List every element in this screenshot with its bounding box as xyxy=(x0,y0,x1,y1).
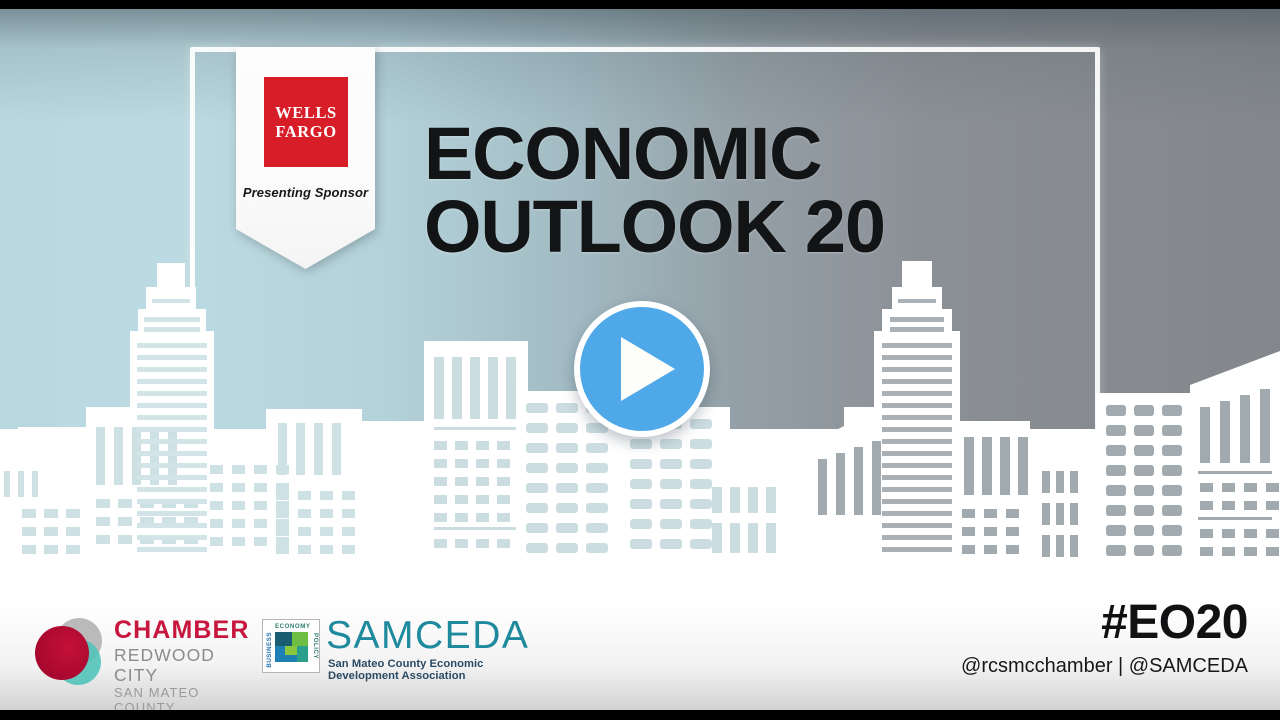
play-triangle-icon xyxy=(621,337,675,401)
samceda-tagline: San Mateo County Economic Development As… xyxy=(328,658,552,682)
presenting-sponsor-label: Presenting Sponsor xyxy=(236,185,375,200)
samceda-block-4 xyxy=(285,646,297,655)
social-handles: @rcsmcchamber | @SAMCEDA xyxy=(961,656,1248,676)
samceda-word-policy: POLICY xyxy=(312,633,319,659)
presenting-sponsor-ribbon: WELLS FARGO Presenting Sponsor xyxy=(236,47,375,269)
letterbox-top xyxy=(0,0,1280,9)
chamber-city: REDWOOD CITY xyxy=(114,646,249,685)
wells-fargo-logo: WELLS FARGO xyxy=(264,77,348,167)
chamber-county: SAN MATEO COUNTY xyxy=(114,686,249,710)
samceda-word-economy: ECONOMY xyxy=(275,623,310,630)
chamber-logo[interactable]: CHAMBER REDWOOD CITY SAN MATEO COUNTY xyxy=(34,614,249,686)
chamber-name: CHAMBER xyxy=(114,618,249,643)
video-player-frame: WELLS FARGO Presenting Sponsor ECONOMIC … xyxy=(0,0,1280,720)
page-title: ECONOMIC OUTLOOK 20 xyxy=(424,117,885,264)
play-button[interactable] xyxy=(574,301,710,437)
samceda-block-5 xyxy=(297,646,308,662)
samceda-block-3 xyxy=(275,646,285,662)
samceda-block-1 xyxy=(275,632,292,646)
samceda-logo[interactable]: BUSINESS ECONOMY POLICY SAMCEDA San Mate… xyxy=(262,617,552,683)
wells-fargo-line-2: FARGO xyxy=(275,123,336,140)
samceda-name: SAMCEDA xyxy=(326,616,529,655)
footer-bar: CHAMBER REDWOOD CITY SAN MATEO COUNTY BU… xyxy=(0,569,1280,710)
chamber-circles-icon xyxy=(34,617,106,685)
samceda-block-6 xyxy=(285,655,297,662)
chamber-circle-red xyxy=(35,626,89,680)
wells-fargo-line-1: WELLS xyxy=(275,104,337,121)
samceda-word-business: BUSINESS xyxy=(266,632,273,668)
social-block: #EO20 @rcsmcchamber | @SAMCEDA xyxy=(961,599,1248,676)
event-hashtag: #EO20 xyxy=(961,599,1248,647)
chamber-wordmark: CHAMBER REDWOOD CITY SAN MATEO COUNTY xyxy=(114,618,249,710)
letterbox-bottom xyxy=(0,710,1280,720)
video-poster[interactable]: WELLS FARGO Presenting Sponsor ECONOMIC … xyxy=(0,9,1280,710)
samceda-mark-icon: BUSINESS ECONOMY POLICY xyxy=(262,619,320,673)
samceda-block-2 xyxy=(292,632,308,646)
